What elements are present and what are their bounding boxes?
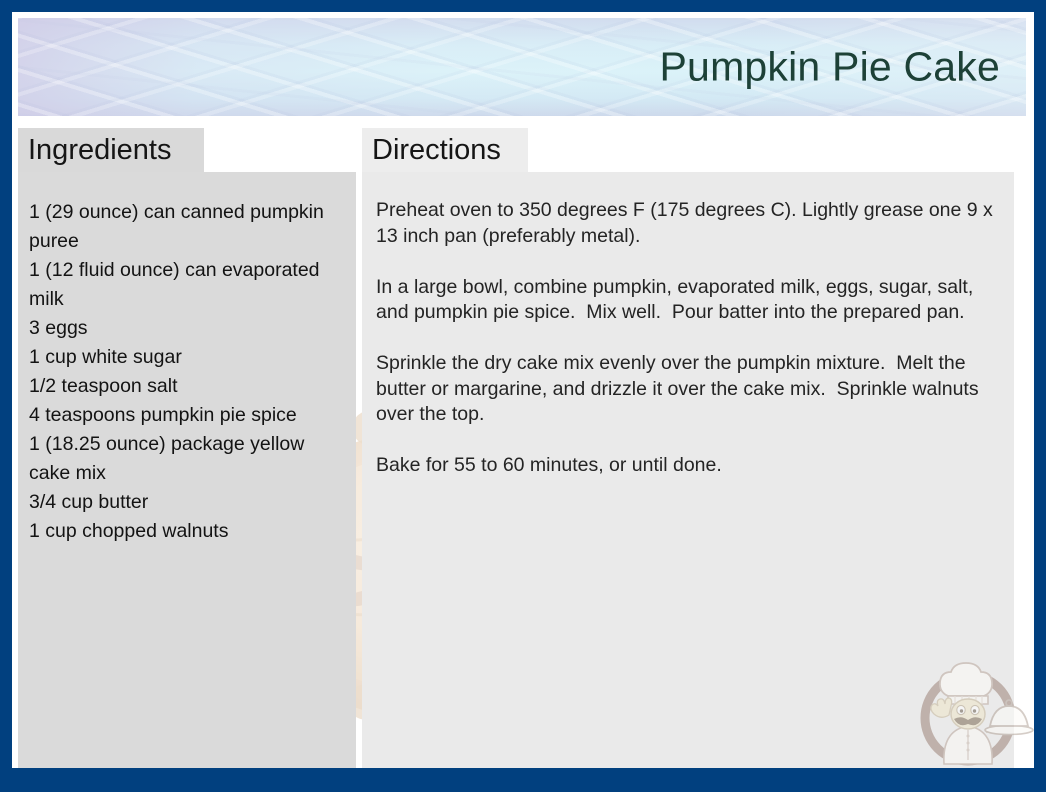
directions-steps: Preheat oven to 350 degrees F (175 degre… (376, 198, 998, 479)
card-inner-field: Pumpkin Pie Cake (12, 12, 1034, 768)
header-banner: Pumpkin Pie Cake (18, 18, 1026, 116)
ingredients-panel: 1 (29 ounce) can canned pumpkin puree 1 … (18, 172, 356, 768)
tab-ingredients[interactable]: Ingredients (18, 128, 204, 172)
directions-panel: Preheat oven to 350 degrees F (175 degre… (362, 172, 1014, 768)
tab-directions[interactable]: Directions (362, 128, 528, 172)
page-title: Pumpkin Pie Cake (660, 45, 1000, 88)
tab-ingredients-label: Ingredients (18, 136, 172, 165)
ingredients-list: 1 (29 ounce) can canned pumpkin puree 1 … (29, 198, 342, 546)
tab-directions-label: Directions (362, 136, 501, 165)
recipe-card: Pumpkin Pie Cake (0, 0, 1046, 792)
